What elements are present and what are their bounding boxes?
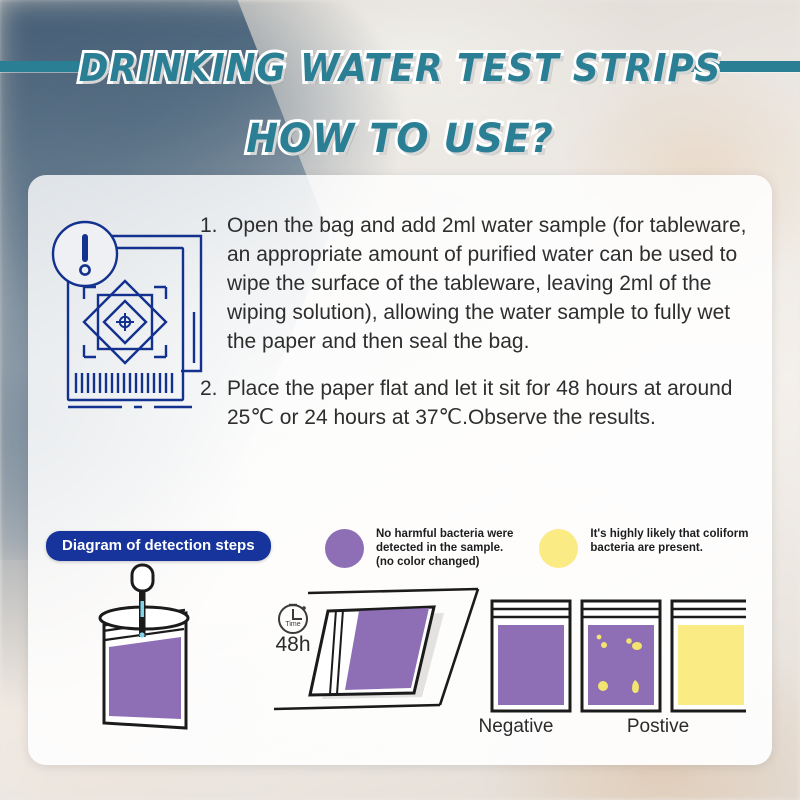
legend-item-positive: It's highly likely that coliform bacteri… xyxy=(539,527,748,569)
flat-bag-illustration: Time 48h xyxy=(266,575,486,725)
result-bag-positive-full xyxy=(672,601,746,711)
instructions-card: 1. Open the bag and add 2ml water sample… xyxy=(28,175,772,765)
header: DRINKING WATER TEST STRIPS HOW TO USE? xyxy=(0,0,800,175)
steps-list: 1. Open the bag and add 2ml water sample… xyxy=(200,211,760,450)
diagram-step-add-sample xyxy=(90,563,250,733)
diagram-section-badge: Diagram of detection steps xyxy=(46,531,271,561)
result-bag-positive-spots xyxy=(582,601,660,711)
step-text: Place the paper flat and let it sit for … xyxy=(227,374,760,432)
document-target-icon xyxy=(42,217,222,417)
step-text: Open the bag and add 2ml water sample (f… xyxy=(227,211,760,356)
legend-dot-yellow xyxy=(539,529,578,568)
step-item: 1. Open the bag and add 2ml water sample… xyxy=(200,211,760,356)
page-subtitle: HOW TO USE? xyxy=(20,116,780,162)
timer-duration: 48h xyxy=(275,633,310,656)
step-number: 1. xyxy=(200,211,227,356)
page-title: DRINKING WATER TEST STRIPS xyxy=(24,46,776,90)
legend-line: No harmful bacteria were xyxy=(376,527,513,541)
legend-dot-purple xyxy=(325,529,364,568)
legend-label: It's highly likely that coliform bacteri… xyxy=(590,527,748,555)
legend-line: It's highly likely that coliform xyxy=(590,527,748,541)
timer-icon: Time xyxy=(279,605,307,633)
test-card-illustration xyxy=(42,217,222,417)
step-item: 2. Place the paper flat and let it sit f… xyxy=(200,374,760,432)
result-label-positive: Postive xyxy=(598,716,718,738)
legend-label: No harmful bacteria were detected in the… xyxy=(376,527,513,569)
step-number: 2. xyxy=(200,374,227,432)
diagram-step-incubate: Time 48h xyxy=(266,575,486,725)
legend-line: (no color changed) xyxy=(376,555,513,569)
legend-line: bacteria are present. xyxy=(590,541,748,555)
legend-line: detected in the sample. xyxy=(376,541,513,555)
legend-item-negative: No harmful bacteria were detected in the… xyxy=(325,527,513,569)
svg-text:Time: Time xyxy=(285,621,300,628)
result-label-negative: Negative xyxy=(456,716,576,738)
result-bag-negative xyxy=(492,601,570,711)
legend: No harmful bacteria were detected in the… xyxy=(325,527,775,569)
dropper-bag-illustration xyxy=(90,563,250,733)
